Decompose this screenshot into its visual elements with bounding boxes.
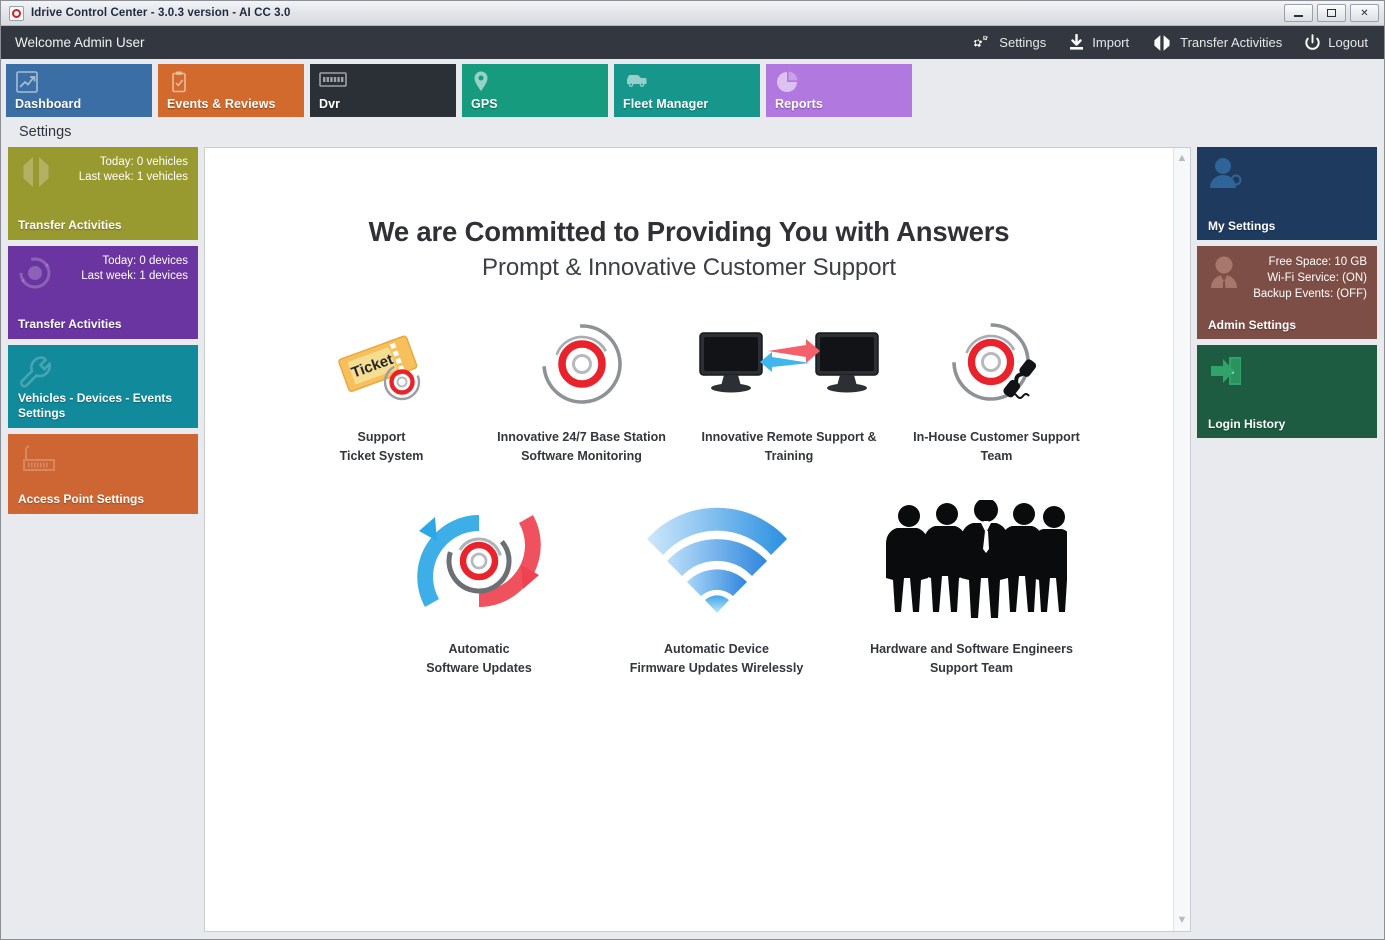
tile-stats: Today: 0 devices Last week: 1 devices xyxy=(18,254,188,284)
maximize-button[interactable] xyxy=(1317,4,1346,22)
page-headline: We are Committed to Providing You with A… xyxy=(205,216,1173,248)
top-actions-group: Settings Import Transf xyxy=(970,34,1374,52)
feature-caption: Hardware and Software Engineers Support … xyxy=(870,640,1073,678)
logout-action-label: Logout xyxy=(1328,35,1368,50)
tile-stat-line: Today: 0 vehicles xyxy=(18,155,188,170)
right-tile-admin-settings[interactable]: Free Space: 10 GB Wi-Fi Service: (ON) Ba… xyxy=(1197,246,1377,339)
feature-auto-software-updates: Automatic Software Updates xyxy=(372,496,587,678)
caption-line: Hardware and Software Engineers xyxy=(870,640,1073,659)
right-tile-title: My Settings xyxy=(1208,219,1275,233)
feature-caption: In-House Customer Support Team xyxy=(913,428,1080,466)
base-station-icon xyxy=(536,314,628,414)
feature-in-house-support: In-House Customer Support Team xyxy=(897,314,1097,466)
tile-stat-line: Today: 0 devices xyxy=(18,254,188,269)
caption-line: In-House Customer Support xyxy=(913,428,1080,447)
right-tile-title: Admin Settings xyxy=(1208,318,1296,332)
feature-firmware-updates: Automatic Device Firmware Updates Wirele… xyxy=(587,496,847,678)
caption-line: Firmware Updates Wirelessly xyxy=(630,659,804,678)
caption-line: Software Monitoring xyxy=(497,447,666,466)
import-action-label: Import xyxy=(1092,35,1129,50)
download-icon xyxy=(1068,34,1085,52)
main-content-panel: We are Committed to Providing You with A… xyxy=(204,147,1191,932)
feature-base-station: Innovative 24/7 Base Station Software Mo… xyxy=(482,314,682,466)
headline-block: We are Committed to Providing You with A… xyxy=(205,148,1173,282)
caption-line: Innovative 24/7 Base Station xyxy=(497,428,666,447)
tab-gps-label: GPS xyxy=(471,97,498,111)
window-controls: ✕ xyxy=(1284,4,1379,22)
sidebar-tile-transfer-devices[interactable]: Today: 0 devices Last week: 1 devices Tr… xyxy=(8,246,198,339)
feature-caption: Innovative 24/7 Base Station Software Mo… xyxy=(497,428,666,466)
settings-action[interactable]: Settings xyxy=(970,34,1046,52)
auto-update-icon xyxy=(389,496,569,626)
sidebar-tile-title: Transfer Activities xyxy=(18,218,122,233)
tile-stat-line: Free Space: 10 GB xyxy=(1207,254,1367,270)
features-row-2: Automatic Software Updates xyxy=(205,496,1173,678)
tile-stat-line: Last week: 1 vehicles xyxy=(18,170,188,185)
tab-reports[interactable]: Reports xyxy=(766,64,912,117)
body-area: Today: 0 vehicles Last week: 1 vehicles … xyxy=(1,147,1384,932)
caption-line: Support Team xyxy=(870,659,1073,678)
tab-fleet-manager[interactable]: Fleet Manager xyxy=(614,64,760,117)
tab-gps[interactable]: GPS xyxy=(462,64,608,117)
right-tile-login-history[interactable]: Login History xyxy=(1197,345,1377,438)
clipboard-check-icon xyxy=(167,81,191,98)
app-logo-icon xyxy=(9,6,24,21)
router-icon xyxy=(16,442,62,483)
tab-dvr[interactable]: Dvr xyxy=(310,64,456,117)
content-scroll-area: We are Committed to Providing You with A… xyxy=(205,148,1173,931)
remote-monitors-icon xyxy=(694,314,884,414)
scroll-up-arrow[interactable]: ▲ xyxy=(1177,153,1188,164)
feature-caption: Support Ticket System xyxy=(340,428,424,466)
settings-action-label: Settings xyxy=(999,35,1046,50)
feature-caption: Automatic Device Firmware Updates Wirele… xyxy=(630,640,804,678)
caption-line: Training xyxy=(701,447,876,466)
caption-line: Team xyxy=(913,447,1080,466)
welcome-message: Welcome Admin User xyxy=(15,35,145,50)
transfer-arrows-icon xyxy=(1151,34,1173,52)
left-sidebar: Today: 0 vehicles Last week: 1 vehicles … xyxy=(8,147,198,932)
tab-events-reviews[interactable]: Events & Reviews xyxy=(158,64,304,117)
feature-support-ticket: Ticket Support Ticket System xyxy=(282,314,482,466)
caption-line: Support xyxy=(340,428,424,447)
gears-icon xyxy=(970,34,992,52)
caption-line: Automatic Device xyxy=(630,640,804,659)
import-action[interactable]: Import xyxy=(1068,34,1129,52)
top-action-bar: Welcome Admin User Settings xyxy=(1,26,1384,59)
sidebar-tile-title: Transfer Activities xyxy=(18,317,122,332)
transfer-activities-action[interactable]: Transfer Activities xyxy=(1151,34,1282,52)
chart-trend-icon xyxy=(15,81,39,98)
engineers-team-icon xyxy=(877,496,1067,626)
sidebar-tile-access-point-settings[interactable]: Access Point Settings xyxy=(8,434,198,514)
application-window: Idrive Control Center - 3.0.3 version - … xyxy=(0,0,1385,940)
tile-stat-line: Backup Events: (OFF) xyxy=(1207,286,1367,302)
sidebar-tile-title: Access Point Settings xyxy=(18,492,144,507)
support-ticket-icon: Ticket xyxy=(330,314,434,414)
feature-caption: Innovative Remote Support & Training xyxy=(701,428,876,466)
right-sidebar: My Settings Free Space: 10 GB Wi-Fi Serv… xyxy=(1197,147,1377,932)
tab-reports-label: Reports xyxy=(775,97,823,111)
phone-support-icon xyxy=(945,314,1049,414)
transfer-activities-action-label: Transfer Activities xyxy=(1180,35,1282,50)
power-icon xyxy=(1304,34,1321,52)
caption-line: Innovative Remote Support & xyxy=(701,428,876,447)
minimize-button[interactable] xyxy=(1284,4,1313,22)
sidebar-tile-transfer-vehicles[interactable]: Today: 0 vehicles Last week: 1 vehicles … xyxy=(8,147,198,240)
tile-stat-line: Wi-Fi Service: (ON) xyxy=(1207,270,1367,286)
scroll-down-arrow[interactable]: ▼ xyxy=(1177,915,1188,926)
dvr-device-icon xyxy=(319,77,347,94)
right-tile-my-settings[interactable]: My Settings xyxy=(1197,147,1377,240)
login-door-icon xyxy=(1207,353,1245,394)
map-pin-icon xyxy=(471,81,491,98)
tab-events-reviews-label: Events & Reviews xyxy=(167,97,276,111)
caption-line: Automatic xyxy=(426,640,532,659)
feature-remote-support: Innovative Remote Support & Training xyxy=(682,314,897,466)
window-title: Idrive Control Center - 3.0.3 version - … xyxy=(31,7,290,19)
sidebar-tile-vehicles-devices-events[interactable]: Vehicles - Devices - Events Settings xyxy=(8,345,198,428)
page-subheadline: Prompt & Innovative Customer Support xyxy=(205,254,1173,282)
feature-engineers-team: Hardware and Software Engineers Support … xyxy=(847,496,1097,678)
vehicles-icon xyxy=(623,77,651,94)
content-scrollbar[interactable]: ▲ ▼ xyxy=(1173,148,1190,931)
tab-dashboard[interactable]: Dashboard xyxy=(6,64,152,117)
breadcrumb: Settings xyxy=(19,124,71,140)
module-tabs: Dashboard Events & Reviews xyxy=(1,59,1384,117)
logout-action[interactable]: Logout xyxy=(1304,34,1368,52)
caption-line: Ticket System xyxy=(340,447,424,466)
tab-fleet-manager-label: Fleet Manager xyxy=(623,97,708,111)
sidebar-tile-title: Vehicles - Devices - Events Settings xyxy=(18,391,178,421)
close-button[interactable]: ✕ xyxy=(1350,4,1379,22)
tab-dvr-label: Dvr xyxy=(319,97,340,111)
feature-caption: Automatic Software Updates xyxy=(426,640,532,678)
wrench-icon xyxy=(16,353,56,396)
user-gear-icon xyxy=(1207,155,1245,198)
tab-dashboard-label: Dashboard xyxy=(15,97,81,111)
tile-stat-line: Last week: 1 devices xyxy=(18,269,188,284)
caption-line: Software Updates xyxy=(426,659,532,678)
features-row-1: Ticket Support Ticket System xyxy=(205,314,1173,466)
tile-stats: Free Space: 10 GB Wi-Fi Service: (ON) Ba… xyxy=(1207,254,1367,302)
breadcrumb-row: Settings xyxy=(1,117,1384,147)
right-tile-title: Login History xyxy=(1208,417,1285,431)
tile-stats: Today: 0 vehicles Last week: 1 vehicles xyxy=(18,155,188,185)
title-bar: Idrive Control Center - 3.0.3 version - … xyxy=(1,1,1384,26)
pie-chart-icon xyxy=(775,81,799,98)
wifi-signal-icon xyxy=(637,496,797,626)
